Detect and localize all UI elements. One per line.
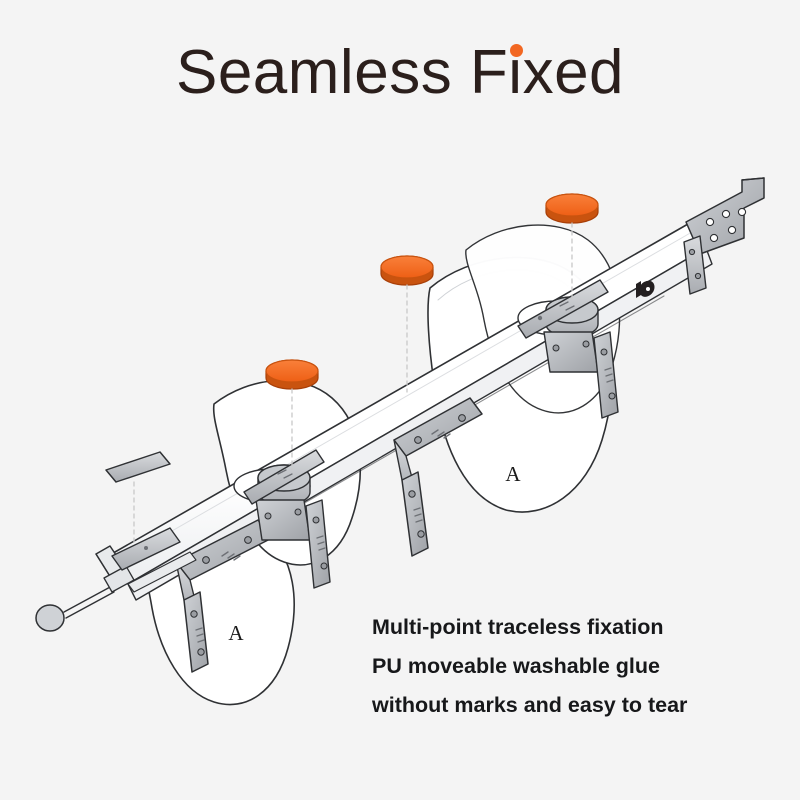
adhesive-pad-2 bbox=[381, 256, 433, 285]
end-hanger-hook-plate bbox=[684, 178, 764, 294]
adhesive-pad-1 bbox=[266, 360, 318, 389]
caption-line-1: Multi-point traceless fixation bbox=[372, 608, 772, 647]
detached-adhesive-strip bbox=[106, 452, 170, 482]
product-illustration-page: Seamless Fixed bbox=[0, 0, 800, 800]
left-rod-with-ball-end bbox=[36, 566, 134, 631]
panel-label-a-upper: A bbox=[505, 462, 521, 486]
rod-ball-end-icon bbox=[36, 605, 64, 631]
caption-line-2: PU moveable washable glue bbox=[372, 647, 772, 686]
caption-block: Multi-point traceless fixation PU moveab… bbox=[372, 608, 772, 725]
caption-line-3: without marks and easy to tear bbox=[372, 686, 772, 725]
panel-label-a-lower: A bbox=[228, 621, 244, 645]
adhesive-pad-3 bbox=[546, 194, 598, 223]
